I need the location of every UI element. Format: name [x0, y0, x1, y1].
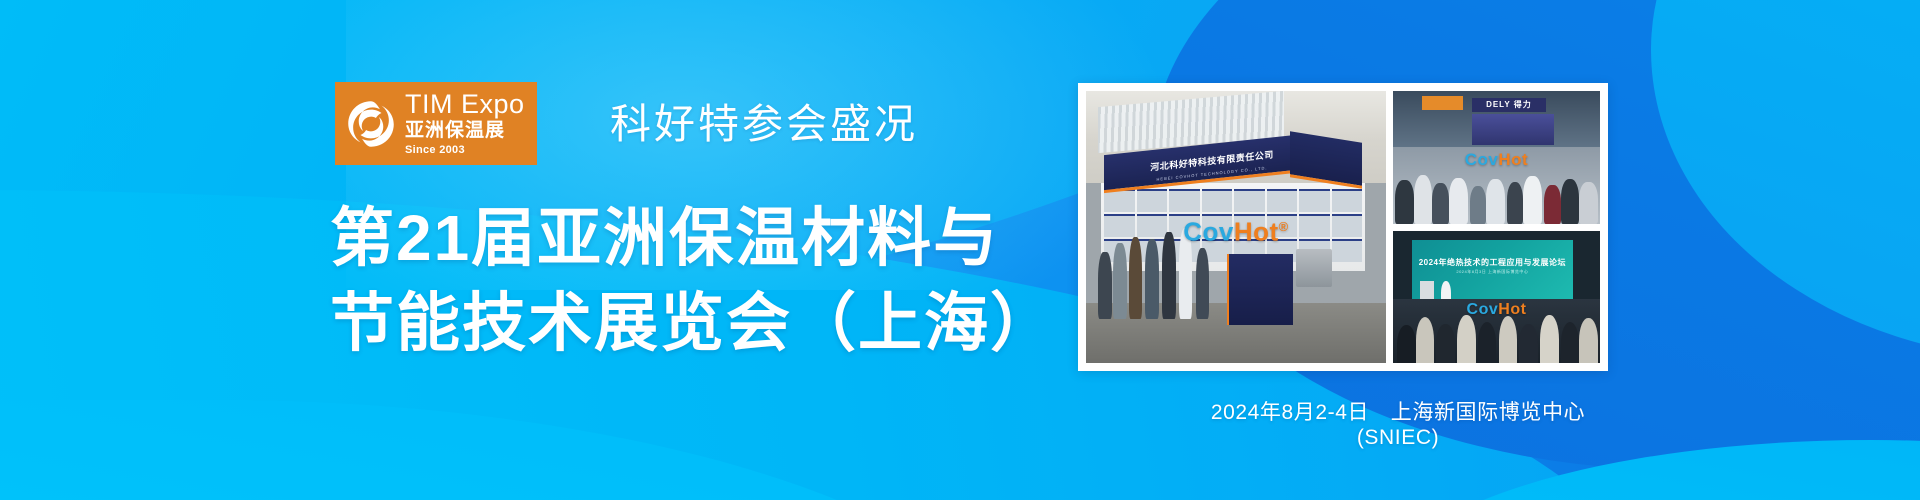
photo-exhibition-booth[interactable]: 河北科好特科技有限责任公司 HEBEI COVHOT TECHNOLOGY CO… — [1086, 91, 1386, 363]
dely-sign-text: DELY 得力 — [1472, 98, 1547, 113]
photo-exhibition-hall[interactable]: DELY 得力 — [1393, 91, 1600, 224]
covhot-watermark: CovHot — [1467, 301, 1527, 319]
logo-en-text: TIM Expo — [405, 91, 525, 118]
forum-photo-art: 2024年绝热技术的工程应用与发展论坛 2024年8月3日 上海新国际博览中心 — [1393, 231, 1600, 364]
covhot-watermark: CovHot® — [1183, 217, 1289, 248]
event-caption: 2024年8月2-4日 上海新国际博览中心(SNIEC) — [1188, 396, 1608, 450]
forum-screen-subtitle: 2024年8月3日 上海新国际博览中心 — [1418, 269, 1567, 275]
logo-text-block: TIM Expo 亚洲保温展 Since 2003 — [405, 91, 525, 156]
swirl-icon — [343, 96, 399, 152]
photo-forum-conference[interactable]: 2024年绝热技术的工程应用与发展论坛 2024年8月3日 上海新国际博览中心 — [1393, 231, 1600, 364]
tim-expo-logo[interactable]: TIM Expo 亚洲保温展 Since 2003 — [335, 82, 537, 165]
title-line-1: 第21届亚洲保温材料与 — [330, 196, 1056, 281]
photo-collage: 河北科好特科技有限责任公司 HEBEI COVHOT TECHNOLOGY CO… — [1078, 83, 1608, 371]
title-line-2: 节能技术展览会（上海） — [330, 281, 1056, 366]
left-content-column: TIM Expo 亚洲保温展 Since 2003 科好特参会盛况 第21届亚洲… — [0, 0, 1060, 500]
collage-side-column: DELY 得力 — [1393, 91, 1600, 363]
forum-screen-title: 2024年绝热技术的工程应用与发展论坛 — [1418, 257, 1567, 268]
covhot-watermark: CovHot — [1465, 150, 1528, 170]
logo-cn-text: 亚洲保温展 — [405, 121, 525, 140]
logo-since-text: Since 2003 — [405, 145, 525, 156]
banner-subtitle: 科好特参会盛况 — [610, 90, 918, 150]
expo-banner: TIM Expo 亚洲保温展 Since 2003 科好特参会盛况 第21届亚洲… — [0, 0, 1920, 500]
page-title: 第21届亚洲保温材料与 节能技术展览会（上海） — [330, 196, 1056, 366]
